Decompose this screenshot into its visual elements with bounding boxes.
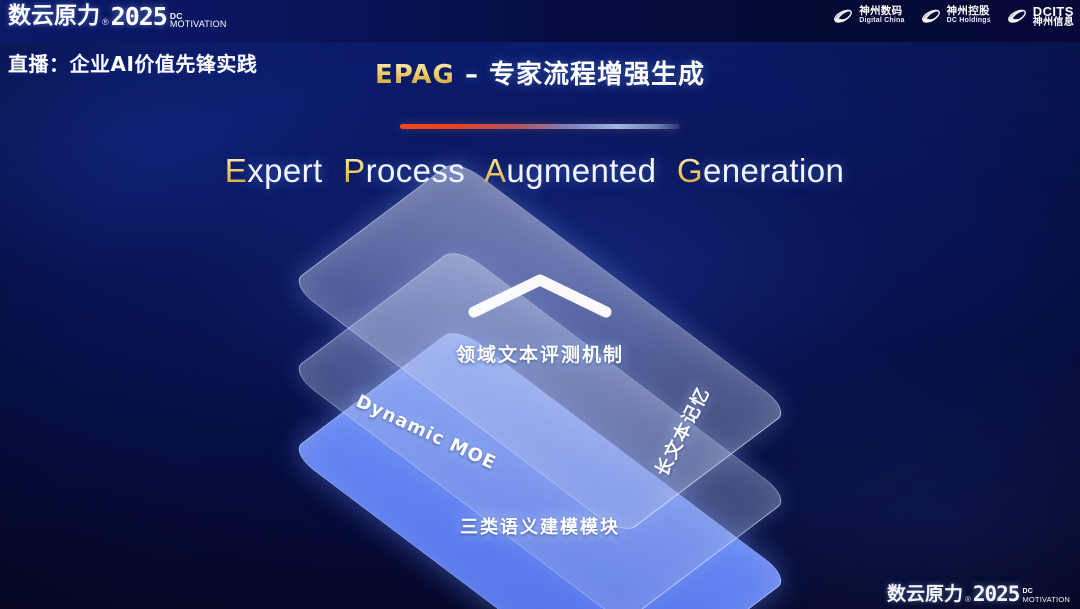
english-word-initial: E [225, 152, 247, 189]
swirl-icon [919, 4, 943, 28]
title-divider [400, 124, 680, 129]
english-word-remainder: eneration [703, 152, 844, 189]
english-word-remainder: xpert [247, 152, 322, 189]
brand-motivation-word: MOTIVATION [1022, 596, 1070, 604]
stack-layer-bottom-label: 三类语义建模模块 [300, 513, 780, 539]
corporate-logo-dcits: DCITS 神州信息 [1005, 4, 1074, 28]
brand-dc-motivation: DC MOTIVATION [1022, 588, 1070, 605]
swirl-icon [831, 4, 855, 28]
page-title-cn: 专家流程增强生成 [489, 60, 705, 90]
corporate-logo-text: DCITS 神州信息 [1033, 5, 1074, 28]
brand-logo-top-left: 数云原力 ® 2025 DC MOTIVATION [8, 4, 227, 29]
brand-registered-mark: ® [102, 15, 109, 29]
english-subtitle: Expert Process Augmented Generation [0, 152, 1080, 190]
corporate-logo-digital-china: 神州数码 Digital China [831, 4, 904, 28]
corporate-logo-text: 神州控股 DC Holdings [947, 6, 991, 26]
page-title-acronym: EPAG [375, 60, 455, 90]
english-word-3: Augmented [484, 152, 656, 189]
stack-layer-top-label: 领域文本评测机制 [300, 340, 780, 367]
english-word-initial: G [677, 152, 703, 189]
brand-registered-mark: ® [965, 594, 971, 605]
layer-stack-diagram: 领域文本评测机制 Dynamic MOE 长文本记忆 三类语义建模模块 [300, 236, 780, 566]
english-word-remainder: rocess [366, 152, 466, 189]
english-word-initial: P [343, 152, 365, 189]
corporate-logo-dc-holdings: 神州控股 DC Holdings [919, 4, 991, 28]
swirl-icon [1005, 4, 1029, 28]
english-word-4: Generation [677, 152, 844, 189]
corporate-name-cn: 神州信息 [1033, 18, 1074, 28]
brand-dc-motivation: DC MOTIVATION [170, 12, 227, 29]
corporate-name-cn: 神州控股 [947, 6, 991, 16]
brand-year: 2025 [111, 4, 167, 29]
brand-logo-bottom-right: 数云原力 ® 2025 DC MOTIVATION [887, 584, 1070, 605]
corporate-name-en: DCITS [1033, 5, 1074, 18]
brand-motivation-word: MOTIVATION [170, 20, 227, 28]
corporate-name-cn: 神州数码 [859, 6, 904, 16]
slide-canvas: 数云原力 ® 2025 DC MOTIVATION 直播：企业AI价值先锋实践 … [0, 0, 1080, 609]
brand-name-cn: 数云原力 [8, 4, 100, 29]
corporate-logo-group: 神州数码 Digital China 神州控股 DC Holdings [831, 4, 1074, 28]
corporate-logo-text: 神州数码 Digital China [859, 6, 904, 26]
page-title-separator: – [465, 60, 479, 90]
chevron-up-icon [460, 268, 620, 320]
english-word-initial: A [484, 152, 506, 189]
live-session-label: 直播：企业AI价值先锋实践 [8, 48, 257, 77]
brand-year: 2025 [973, 584, 1020, 605]
brand-name-cn: 数云原力 [887, 584, 963, 605]
corporate-name-en: DC Holdings [947, 16, 991, 26]
corporate-name-en: Digital China [859, 16, 904, 26]
english-word-1: Expert [225, 152, 323, 189]
english-word-remainder: ugmented [506, 152, 656, 189]
english-word-2: Process [343, 152, 465, 189]
